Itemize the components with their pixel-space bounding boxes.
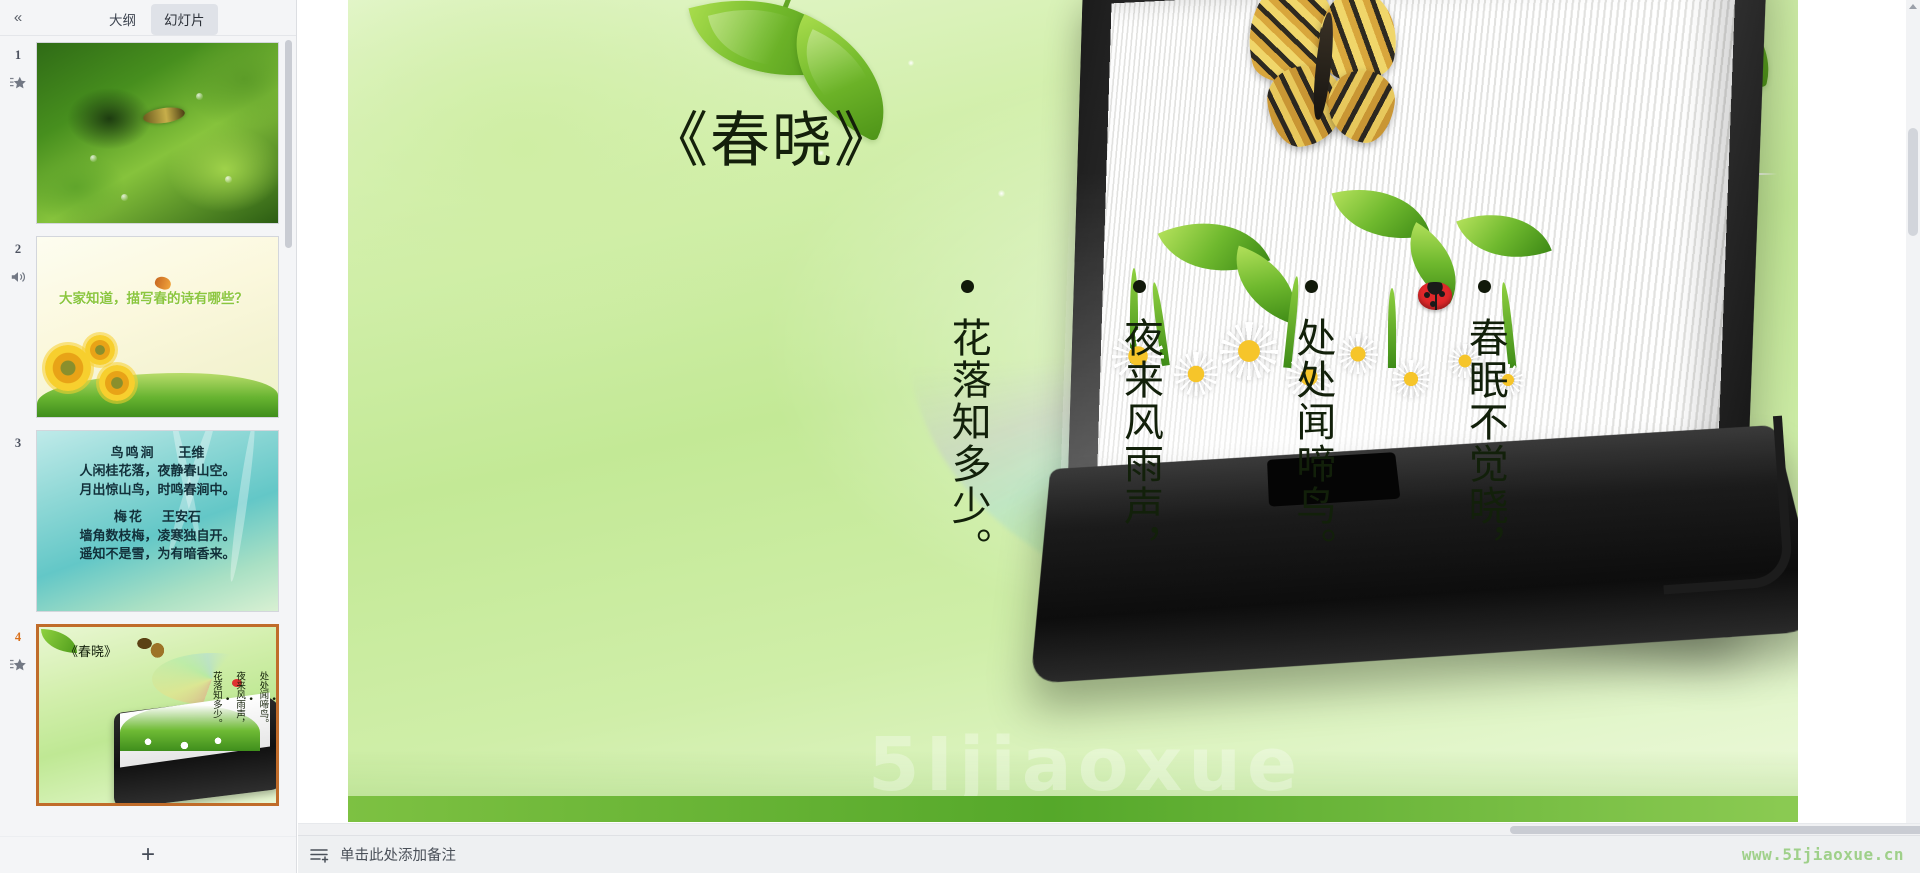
poem-column-text: 处处闻啼鸟。 [1290, 317, 1335, 569]
butterfly-graphic [1228, 0, 1428, 188]
poem-column: 花落知多少。 [211, 671, 230, 728]
presentation-editor: « 大纲 幻灯片 1 [0, 0, 1920, 873]
animation-star-icon[interactable] [9, 657, 27, 673]
dew-drop [196, 93, 203, 100]
poem-2-title: 梅花 [114, 510, 144, 525]
band-shadow [348, 750, 1810, 796]
stage-right-margin [1798, 0, 1906, 822]
poem-column: 夜来风雨声， [234, 671, 253, 728]
add-notes-icon[interactable] [310, 847, 330, 863]
panel-tab-strip: 大纲 幻灯片 [96, 4, 218, 35]
vertical-scrollbar-thumb[interactable] [1908, 128, 1918, 236]
insect-graphic [142, 105, 186, 126]
slide-number: 3 [15, 436, 21, 451]
slide-number: 4 [15, 630, 21, 645]
poem-column: 花落知多少。 [900, 280, 1034, 569]
poem-column-text: 春眠不觉晓， [1462, 317, 1507, 569]
poem-column: 春眠不觉晓， [1417, 280, 1551, 569]
dew-drop [121, 194, 128, 201]
panel-vertical-scrollbar[interactable] [285, 40, 292, 248]
poem-2-author: 王安石 [162, 510, 201, 525]
tab-slides[interactable]: 幻灯片 [151, 4, 218, 35]
slide-meta: 4 [0, 624, 36, 806]
panel-header: « 大纲 幻灯片 [0, 0, 296, 36]
slide-4-poem: 春眠不觉晓， 处处闻啼鸟。 夜来风雨声， 花落知多少。 [53, 671, 279, 728]
slide-number: 2 [15, 242, 21, 257]
slide-meta: 2 [0, 236, 36, 418]
horizontal-scrollbar-thumb[interactable] [1510, 826, 1920, 834]
poem-column-text: 花落知多少。 [945, 317, 990, 569]
slide-3-poem-block: 鸟鸣涧 王维 人闲桂花落，夜静春山空。 月出惊山鸟，时鸣春涧中。 梅花 王安石 … [37, 445, 278, 565]
list-item[interactable]: 2 大家知道，描写春的诗有哪些？ [0, 230, 297, 424]
notes-bar[interactable]: 单击此处添加备注 www.5Ijiaoxue.cn [298, 835, 1920, 873]
slide-bottom-band [348, 796, 1810, 822]
list-item[interactable]: 1 [0, 36, 297, 230]
slide-poem-text[interactable]: 春眠不觉晓， 处处闻啼鸟。 夜来风雨声， 花落知多少。 [900, 280, 1552, 569]
main-horizontal-scrollbar[interactable] [298, 823, 1920, 835]
poem-1-line-1: 人闲桂花落，夜静春山空。 [37, 463, 278, 481]
list-item[interactable]: 4 《春晓》 春眠不觉晓， [0, 618, 297, 812]
slide-thumbnail-list[interactable]: 1 2 [0, 36, 297, 836]
book-stand [1652, 416, 1794, 595]
scroll-up-arrow-icon[interactable] [1909, 4, 1917, 9]
notes-placeholder-text[interactable]: 单击此处添加备注 [340, 844, 456, 865]
site-watermark: www.5Ijiaoxue.cn [1742, 845, 1904, 864]
slide-thumbnail-4[interactable]: 《春晓》 春眠不觉晓， 处处闻啼鸟。 夜来风雨声， 花落知多少。 [36, 624, 279, 806]
slide-4-title: 《春晓》 [65, 641, 117, 660]
bullet-icon [1305, 280, 1318, 293]
spacer [37, 500, 278, 509]
bullet-icon [1133, 280, 1146, 293]
slide-thumbnail-1[interactable] [36, 42, 279, 224]
poem-2-line-1: 墙角数枝梅，凌寒独自开。 [37, 528, 278, 546]
slide-number: 1 [15, 48, 21, 63]
slide-meta: 1 [0, 42, 36, 224]
slide-stage: 《春晓》 春眠不觉晓， 处处闻啼鸟。 夜来风雨声， 花落知多少。 [298, 0, 1920, 873]
slide-thumbnail-2[interactable]: 大家知道，描写春的诗有哪些？ [36, 236, 279, 418]
slide-meta: 3 [0, 430, 36, 612]
poem-column: 处处闻啼鸟。 [257, 671, 276, 728]
poem-2-line-2: 遥知不是雪，为有暗香来。 [37, 546, 278, 564]
main-vertical-scrollbar[interactable] [1906, 0, 1920, 836]
animation-star-icon[interactable] [9, 75, 27, 91]
poem-1-title: 鸟鸣涧 [111, 446, 156, 461]
sunflower-graphic [85, 335, 115, 365]
poem-column: 夜来风雨声， [1072, 280, 1206, 569]
bullet-icon [961, 280, 974, 293]
current-slide[interactable]: 《春晓》 春眠不觉晓， 处处闻啼鸟。 夜来风雨声， 花落知多少。 [348, 0, 1810, 822]
slide-2-question-text: 大家知道，描写春的诗有哪些？ [59, 289, 259, 309]
sunflower-graphic [45, 345, 91, 391]
poem-1-author: 王维 [178, 446, 204, 461]
add-slide-button[interactable]: + [0, 836, 296, 873]
chevron-double-left-icon[interactable]: « [0, 1, 34, 35]
poem-column-text: 夜来风雨声， [1117, 317, 1162, 569]
slide-title-text[interactable]: 《春晓》 [648, 92, 896, 179]
audio-speaker-icon[interactable] [9, 269, 27, 285]
sunflower-graphic [99, 365, 135, 401]
dew-drop [90, 155, 97, 162]
poem-1-line-2: 月出惊山鸟，时鸣春涧中。 [37, 482, 278, 500]
butterfly-graphic [135, 633, 169, 663]
dew-drop [225, 176, 232, 183]
slides-panel: « 大纲 幻灯片 1 [0, 0, 297, 873]
slide-thumbnail-3[interactable]: 鸟鸣涧 王维 人闲桂花落，夜静春山空。 月出惊山鸟，时鸣春涧中。 梅花 王安石 … [36, 430, 279, 612]
bullet-icon [1478, 280, 1491, 293]
poem-column: 处处闻啼鸟。 [1245, 280, 1379, 569]
tab-outline[interactable]: 大纲 [96, 4, 149, 35]
list-item[interactable]: 3 鸟鸣涧 王维 人闲桂花落，夜静春山空。 月出惊山鸟，时鸣春涧中。 梅花 王安… [0, 424, 297, 618]
